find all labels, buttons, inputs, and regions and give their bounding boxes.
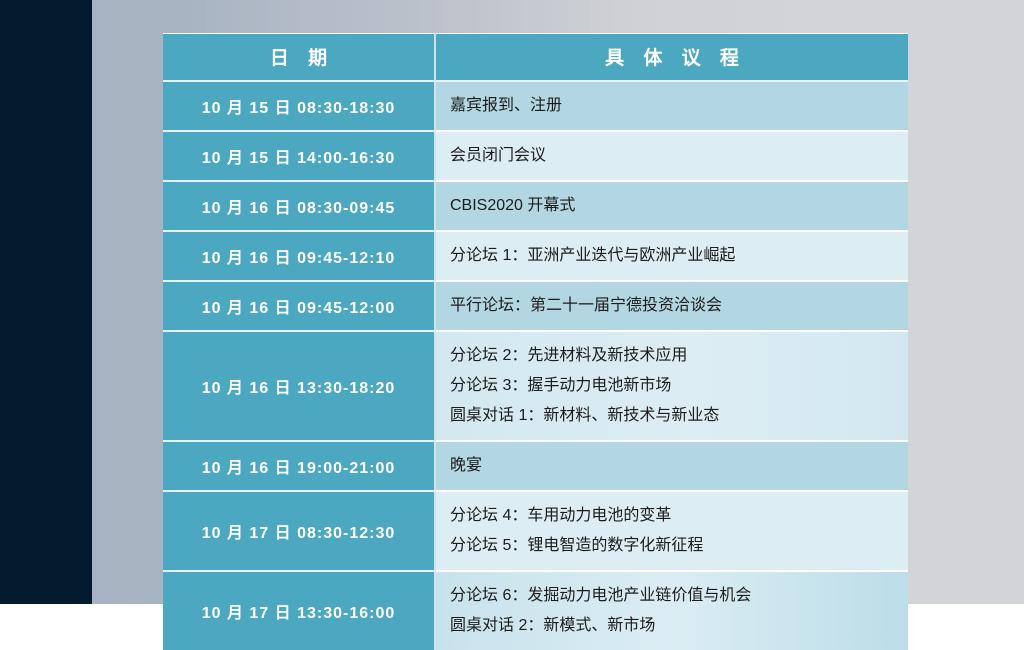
cell-date: 10 月 15 日 08:30-18:30 bbox=[163, 82, 436, 132]
cell-agenda: 分论坛 6：发掘动力电池产业链价值与机会圆桌对话 2：新模式、新市场 bbox=[436, 572, 908, 650]
table-row: 10 月 17 日 13:30-16:00分论坛 6：发掘动力电池产业链价值与机… bbox=[163, 572, 908, 650]
agenda-line: 圆桌对话 2：新模式、新市场 bbox=[450, 611, 908, 641]
cell-date: 10 月 16 日 19:00-21:00 bbox=[163, 442, 436, 492]
agenda-line: 平行论坛：第二十一届宁德投资洽谈会 bbox=[450, 291, 908, 321]
agenda-line: CBIS2020 开幕式 bbox=[450, 191, 908, 221]
table-row: 10 月 16 日 09:45-12:10分论坛 1：亚洲产业迭代与欧洲产业崛起 bbox=[163, 232, 908, 282]
cell-date: 10 月 15 日 14:00-16:30 bbox=[163, 132, 436, 182]
agenda-table-head: 日 期 具 体 议 程 bbox=[163, 33, 908, 82]
cell-agenda: 平行论坛：第二十一届宁德投资洽谈会 bbox=[436, 282, 908, 332]
table-row: 10 月 16 日 09:45-12:00平行论坛：第二十一届宁德投资洽谈会 bbox=[163, 282, 908, 332]
agenda-table-body: 10 月 15 日 08:30-18:30嘉宾报到、注册10 月 15 日 14… bbox=[163, 82, 908, 650]
agenda-line: 分论坛 6：发掘动力电池产业链价值与机会 bbox=[450, 581, 908, 611]
agenda-line: 会员闭门会议 bbox=[450, 141, 908, 171]
agenda-line: 晚宴 bbox=[450, 451, 908, 481]
table-row: 10 月 16 日 19:00-21:00晚宴 bbox=[163, 442, 908, 492]
agenda-line: 分论坛 4：车用动力电池的变革 bbox=[450, 501, 908, 531]
column-header-agenda: 具 体 议 程 bbox=[436, 33, 908, 82]
cell-agenda: 分论坛 1：亚洲产业迭代与欧洲产业崛起 bbox=[436, 232, 908, 282]
table-row: 10 月 16 日 08:30-09:45CBIS2020 开幕式 bbox=[163, 182, 908, 232]
column-header-date: 日 期 bbox=[163, 33, 436, 82]
cell-agenda: 分论坛 4：车用动力电池的变革分论坛 5：锂电智造的数字化新征程 bbox=[436, 492, 908, 572]
cell-date: 10 月 16 日 08:30-09:45 bbox=[163, 182, 436, 232]
cell-agenda: 嘉宾报到、注册 bbox=[436, 82, 908, 132]
cell-agenda: 晚宴 bbox=[436, 442, 908, 492]
cell-date: 10 月 16 日 09:45-12:10 bbox=[163, 232, 436, 282]
page-canvas: 日 期 具 体 议 程 10 月 15 日 08:30-18:30嘉宾报到、注册… bbox=[0, 0, 1024, 604]
agenda-line: 圆桌对话 1：新材料、新技术与新业态 bbox=[450, 401, 908, 431]
table-header-row: 日 期 具 体 议 程 bbox=[163, 33, 908, 82]
table-row: 10 月 17 日 08:30-12:30分论坛 4：车用动力电池的变革分论坛 … bbox=[163, 492, 908, 572]
cell-date: 10 月 16 日 09:45-12:00 bbox=[163, 282, 436, 332]
cell-date: 10 月 16 日 13:30-18:20 bbox=[163, 332, 436, 442]
agenda-line: 嘉宾报到、注册 bbox=[450, 91, 908, 121]
agenda-line: 分论坛 2：先进材料及新技术应用 bbox=[450, 341, 908, 371]
agenda-line: 分论坛 1：亚洲产业迭代与欧洲产业崛起 bbox=[450, 241, 908, 271]
cell-date: 10 月 17 日 08:30-12:30 bbox=[163, 492, 436, 572]
table-row: 10 月 16 日 13:30-18:20分论坛 2：先进材料及新技术应用分论坛… bbox=[163, 332, 908, 442]
cell-agenda: 分论坛 2：先进材料及新技术应用分论坛 3：握手动力电池新市场圆桌对话 1：新材… bbox=[436, 332, 908, 442]
agenda-line: 分论坛 5：锂电智造的数字化新征程 bbox=[450, 531, 908, 561]
table-row: 10 月 15 日 08:30-18:30嘉宾报到、注册 bbox=[163, 82, 908, 132]
table-row: 10 月 15 日 14:00-16:30会员闭门会议 bbox=[163, 132, 908, 182]
agenda-table: 日 期 具 体 议 程 10 月 15 日 08:30-18:30嘉宾报到、注册… bbox=[163, 33, 908, 650]
cell-date: 10 月 17 日 13:30-16:00 bbox=[163, 572, 436, 650]
cell-agenda: 会员闭门会议 bbox=[436, 132, 908, 182]
left-decorative-band bbox=[0, 0, 92, 604]
agenda-line: 分论坛 3：握手动力电池新市场 bbox=[450, 371, 908, 401]
cell-agenda: CBIS2020 开幕式 bbox=[436, 182, 908, 232]
